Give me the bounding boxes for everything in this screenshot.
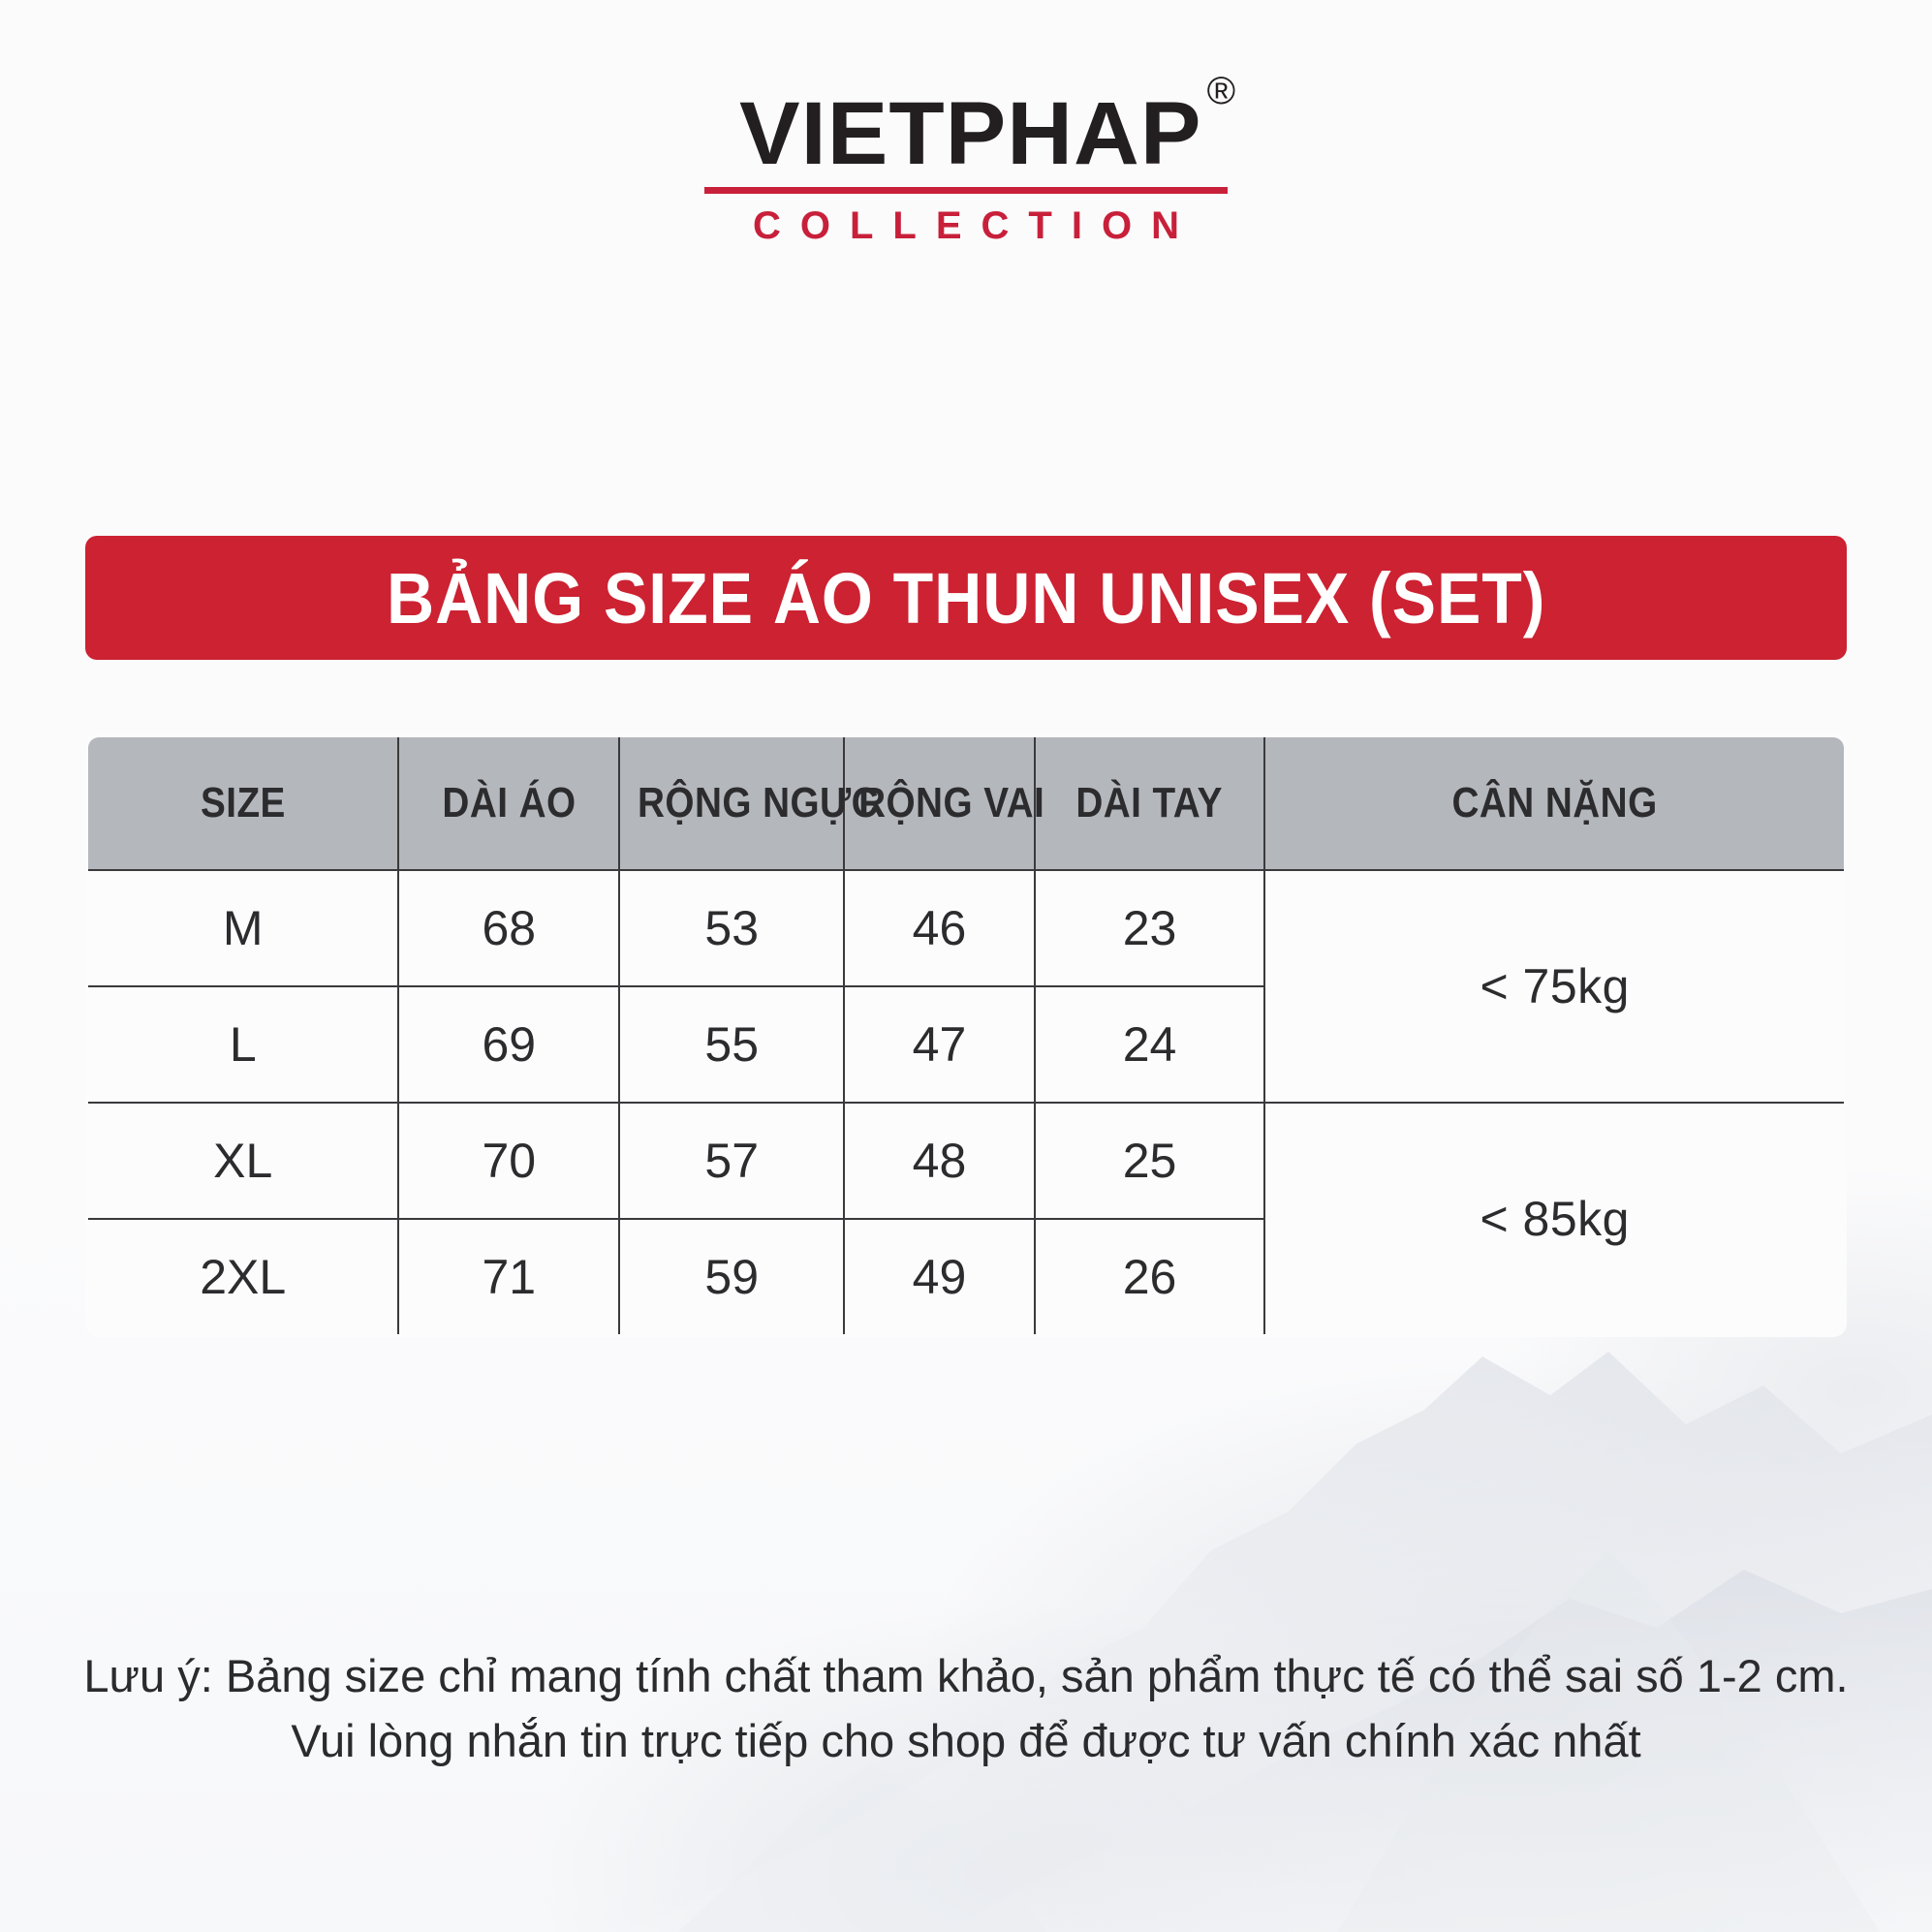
- page-title-banner: BẢNG SIZE ÁO THUN UNISEX (SET): [85, 536, 1847, 660]
- cell-size: 2XL: [87, 1219, 399, 1336]
- column-header-size: SIZE: [87, 736, 399, 871]
- cell-rong-nguc: 53: [619, 870, 844, 986]
- column-header-size-label: SIZE: [201, 779, 286, 827]
- cell-dai-tay: 26: [1035, 1219, 1265, 1336]
- size-chart-container: SIZE DÀI ÁO RỘNG NGỰC RỘNG VAI DÀI TAY C…: [85, 734, 1847, 1337]
- column-header-dai-tay: DÀI TAY: [1035, 736, 1265, 871]
- size-chart-table: SIZE DÀI ÁO RỘNG NGỰC RỘNG VAI DÀI TAY C…: [85, 734, 1847, 1337]
- cell-dai-tay: 25: [1035, 1103, 1265, 1219]
- logo-red-rule: [704, 187, 1228, 194]
- table-body: M 68 53 46 23 < 75kg L 69 55 47 24 XL 70…: [87, 870, 1846, 1336]
- cell-rong-vai: 46: [844, 870, 1034, 986]
- column-header-dai-tay-label: DÀI TAY: [1076, 779, 1224, 827]
- cell-dai-ao: 69: [398, 986, 619, 1103]
- cell-dai-tay: 24: [1035, 986, 1265, 1103]
- brand-logo: VIETPHAP ® COLLECTION: [0, 89, 1932, 245]
- cell-rong-vai: 49: [844, 1219, 1034, 1336]
- footer-note-line-1: Lưu ý: Bảng size chỉ mang tính chất tham…: [0, 1644, 1932, 1709]
- cell-dai-ao: 68: [398, 870, 619, 986]
- footer-note-line-2: Vui lòng nhắn tin trực tiếp cho shop để …: [0, 1709, 1932, 1774]
- cell-dai-ao: 70: [398, 1103, 619, 1219]
- column-header-dai-ao-label: DÀI ÁO: [442, 779, 576, 827]
- logo-wordmark: VIETPHAP: [739, 89, 1201, 178]
- table-row: XL 70 57 48 25 < 85kg: [87, 1103, 1846, 1219]
- cell-can-nang: < 85kg: [1264, 1103, 1845, 1336]
- cell-can-nang: < 75kg: [1264, 870, 1845, 1103]
- column-header-rong-vai-label: RỘNG VAI: [858, 779, 1044, 827]
- table-header-row: SIZE DÀI ÁO RỘNG NGỰC RỘNG VAI DÀI TAY C…: [87, 736, 1846, 871]
- footer-note: Lưu ý: Bảng size chỉ mang tính chất tham…: [0, 1644, 1932, 1773]
- page-title: BẢNG SIZE ÁO THUN UNISEX (SET): [387, 557, 1545, 639]
- cell-dai-tay: 23: [1035, 870, 1265, 986]
- registered-trademark-icon: ®: [1207, 72, 1235, 110]
- table-header: SIZE DÀI ÁO RỘNG NGỰC RỘNG VAI DÀI TAY C…: [87, 736, 1846, 871]
- table-row: M 68 53 46 23 < 75kg: [87, 870, 1846, 986]
- logo-tagline: COLLECTION: [0, 206, 1932, 245]
- column-header-rong-vai: RỘNG VAI: [844, 736, 1034, 871]
- cell-size: XL: [87, 1103, 399, 1219]
- cell-rong-nguc: 59: [619, 1219, 844, 1336]
- column-header-rong-nguc: RỘNG NGỰC: [619, 736, 844, 871]
- logo-wordmark-row: VIETPHAP ®: [739, 89, 1193, 178]
- column-header-dai-ao: DÀI ÁO: [398, 736, 619, 871]
- cell-rong-nguc: 57: [619, 1103, 844, 1219]
- cell-size: M: [87, 870, 399, 986]
- cell-rong-vai: 48: [844, 1103, 1034, 1219]
- cell-size: L: [87, 986, 399, 1103]
- cell-rong-nguc: 55: [619, 986, 844, 1103]
- column-header-can-nang-label: CÂN NẶNG: [1452, 779, 1658, 827]
- cell-rong-vai: 47: [844, 986, 1034, 1103]
- cell-dai-ao: 71: [398, 1219, 619, 1336]
- column-header-can-nang: CÂN NẶNG: [1264, 736, 1845, 871]
- column-header-rong-nguc-label: RỘNG NGỰC: [638, 779, 879, 827]
